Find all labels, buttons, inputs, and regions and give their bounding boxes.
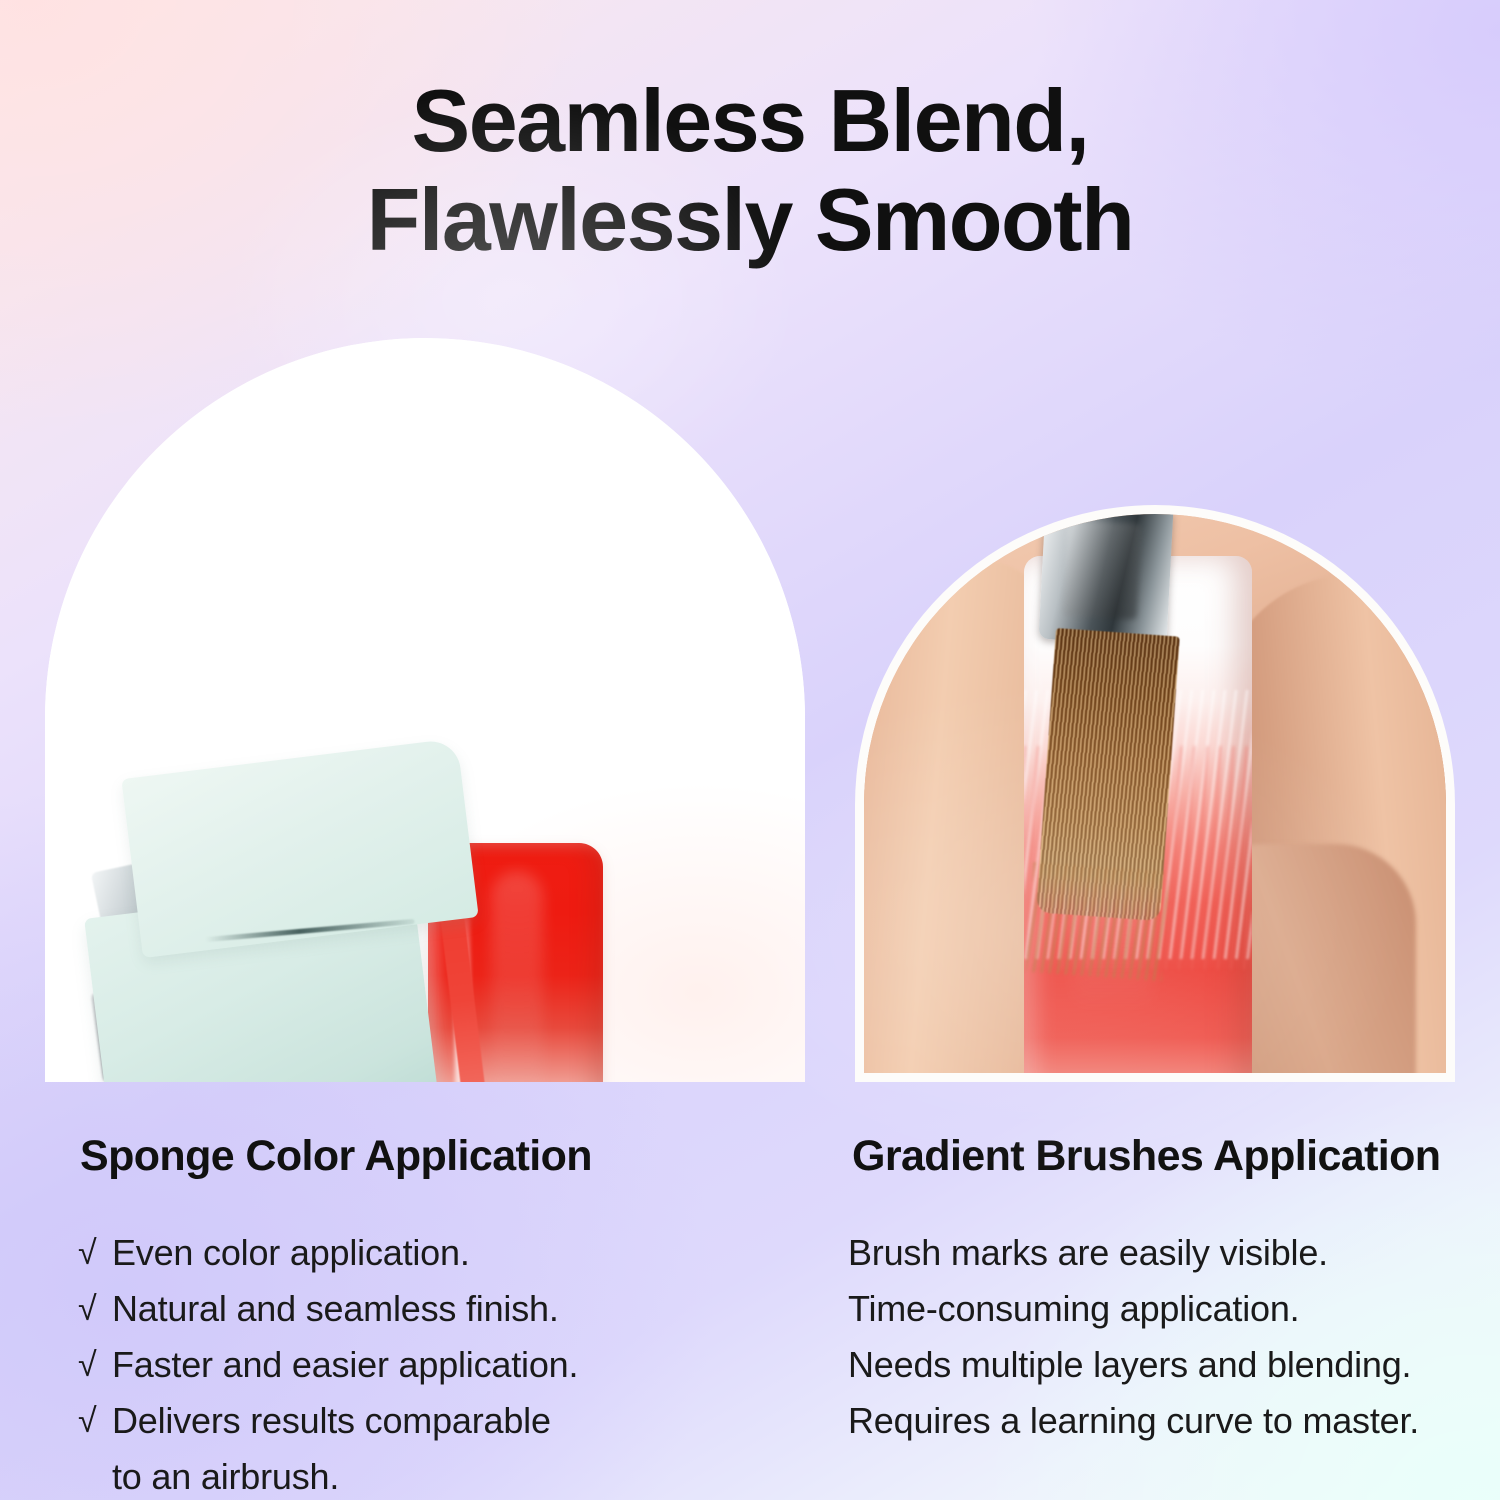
page-title-line-1: Seamless Blend, [412,71,1089,170]
list-item-label: Natural and seamless finish. [112,1281,718,1337]
list-item: √to an airbrush. [78,1449,718,1500]
sponge-photo-card [45,338,805,1082]
list-item: Requires a learning curve to master. [848,1393,1488,1449]
sponge-benefit-list: √Even color application.√Natural and sea… [78,1225,718,1500]
list-item: √Even color application. [78,1225,718,1281]
list-item: Time-consuming application. [848,1281,1488,1337]
list-item: √Faster and easier application. [78,1337,718,1393]
list-item-label: Delivers results comparable [112,1393,718,1449]
list-item-label: Needs multiple layers and blending. [848,1337,1488,1393]
sponge-photo [45,338,805,1082]
checkmark-icon: √ [78,1393,112,1449]
page-title-line-2: Flawlessly Smooth [0,171,1500,270]
list-item-label: Faster and easier application. [112,1337,718,1393]
brush-drawback-list: Brush marks are easily visible.Time-cons… [848,1225,1488,1449]
brush-photo-frame [864,514,1446,1073]
checkmark-icon: √ [78,1337,112,1393]
list-item-label: Even color application. [112,1225,718,1281]
brush-bristles [1036,628,1180,921]
sponge-caption: Sponge Color Application [80,1132,592,1181]
list-item-label: Time-consuming application. [848,1281,1488,1337]
list-item-label: to an airbrush. [112,1449,718,1500]
checkmark-icon: √ [78,1281,112,1337]
list-item: √Delivers results comparable [78,1393,718,1449]
list-item-label: Requires a learning curve to master. [848,1393,1488,1449]
checkmark-icon: √ [78,1225,112,1281]
brush-photo [864,514,1446,1073]
page-title: Seamless Blend, Flawlessly Smooth [0,72,1500,269]
promo-page: Seamless Blend, Flawlessly Smooth [0,0,1500,1500]
list-item: Needs multiple layers and blending. [848,1337,1488,1393]
brush-photo-card [855,505,1455,1082]
list-item: √Natural and seamless finish. [78,1281,718,1337]
brush-caption: Gradient Brushes Application [852,1132,1440,1181]
list-item: Brush marks are easily visible. [848,1225,1488,1281]
list-item-label: Brush marks are easily visible. [848,1225,1488,1281]
brush-ferrule [1039,514,1174,645]
